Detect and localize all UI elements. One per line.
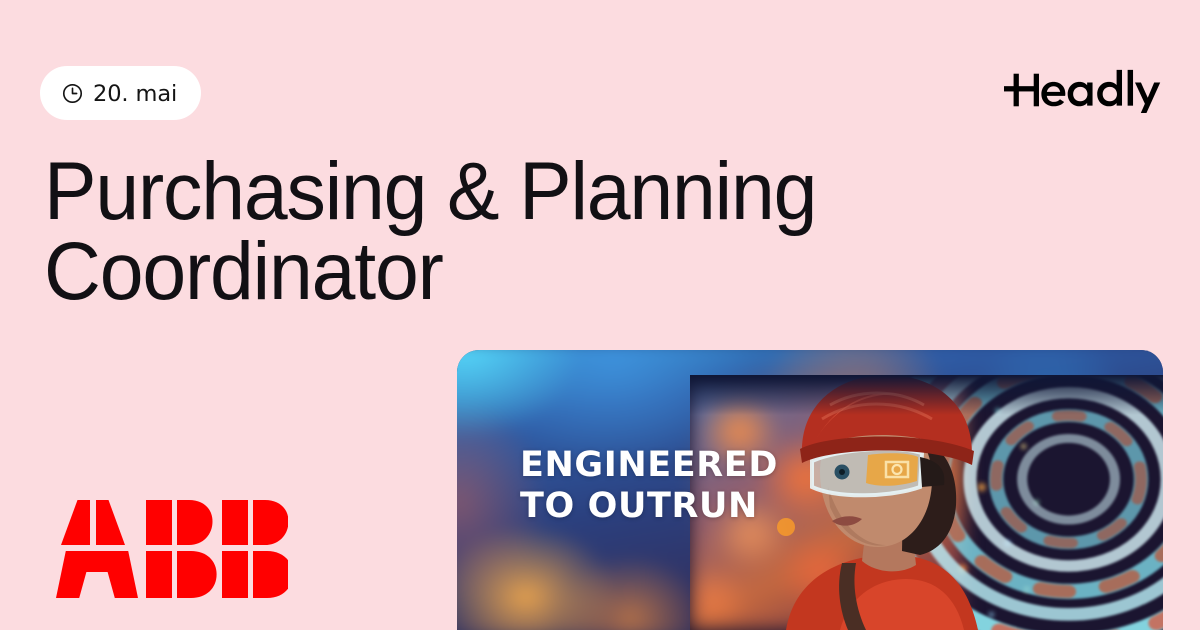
ad-headline-line-1: ENGINEERED: [520, 445, 778, 486]
abb-logo: [56, 500, 288, 598]
abb-logo-icon: [56, 500, 288, 598]
ad-headline: ENGINEERED TO OUTRUN: [520, 445, 778, 528]
brand-logo[interactable]: [1004, 62, 1162, 118]
page-title: Purchasing & Planning Coordinator: [44, 152, 889, 313]
photo-top-shade: [690, 375, 1163, 415]
page-title-line-2: Coordinator: [44, 226, 443, 317]
date-text: 20. mai: [93, 81, 177, 107]
media-card[interactable]: ENGINEERED TO OUTRUN: [457, 350, 1163, 630]
date-badge: 20. mai: [40, 66, 201, 120]
ad-headline-line-2: TO OUTRUN: [520, 486, 778, 527]
headly-wordmark-icon: [1004, 67, 1162, 113]
page-title-line-1: Purchasing & Planning: [44, 146, 816, 237]
clock-icon: [61, 82, 84, 105]
